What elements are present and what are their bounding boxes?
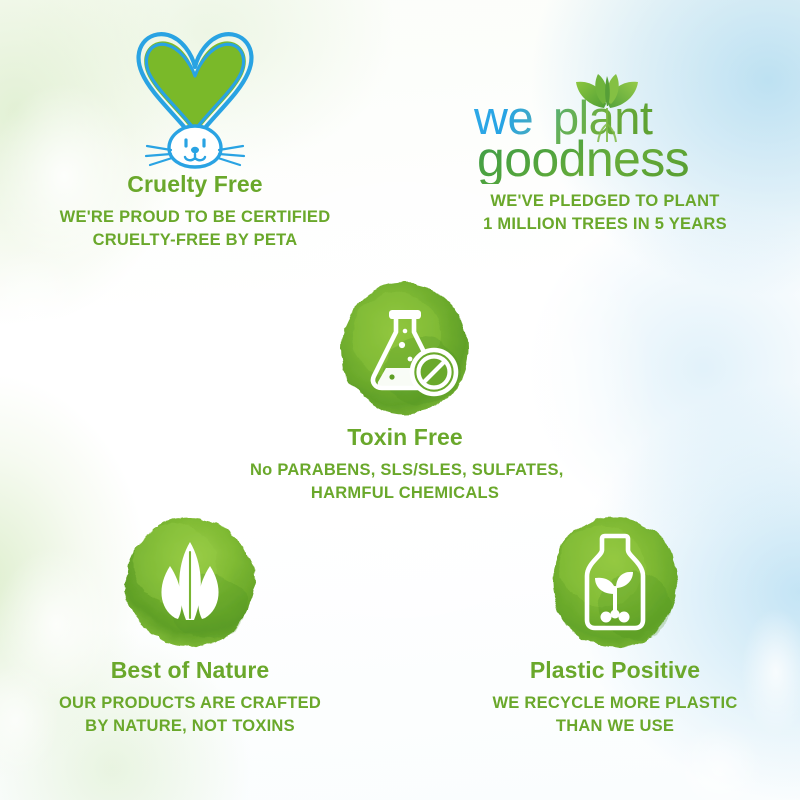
feature-cruelty-free: Cruelty Free WE'RE PROUD TO BE CERTIFIED… [40, 22, 350, 252]
three-leaves-icon [115, 508, 265, 658]
feature-plant-goodness: we plant goodness WE'VE PLEDGED TO PLANT… [440, 72, 770, 236]
description-line: OUR PRODUCTS ARE CRAFTED [30, 692, 350, 715]
plastic-positive-badge [540, 508, 690, 658]
feature-title-toxin-free: Toxin Free [250, 425, 560, 450]
feature-best-of-nature: Best of Nature OUR PRODUCTS ARE CRAFTED … [30, 508, 350, 738]
best-of-nature-badge [115, 508, 265, 658]
flask-no-toxins-icon [330, 275, 480, 425]
description-line: BY NATURE, NOT TOXINS [30, 715, 350, 738]
description-line: WE'VE PLEDGED TO PLANT [440, 190, 770, 213]
feature-description-plant-goodness: WE'VE PLEDGED TO PLANT 1 MILLION TREES I… [440, 190, 770, 236]
description-line: 1 MILLION TREES IN 5 YEARS [440, 213, 770, 236]
we-plant-goodness-logo-svg: we plant goodness [460, 72, 750, 184]
description-line: CRUELTY-FREE BY PETA [40, 229, 350, 252]
feature-toxin-free: Toxin Free No PARABENS, SLS/SLES, SULFAT… [250, 275, 560, 505]
feature-description-best-of-nature: OUR PRODUCTS ARE CRAFTED BY NATURE, NOT … [30, 692, 350, 738]
description-line: HARMFUL CHEMICALS [250, 482, 560, 505]
feature-title-best-of-nature: Best of Nature [30, 658, 350, 683]
infographic-canvas: Cruelty Free WE'RE PROUD TO BE CERTIFIED… [0, 0, 800, 800]
feature-title-plastic-positive: Plastic Positive [455, 658, 775, 683]
bottle-with-sprout-icon [540, 508, 690, 658]
toxin-free-badge [330, 275, 480, 425]
description-line: WE'RE PROUD TO BE CERTIFIED [40, 206, 350, 229]
feature-plastic-positive: Plastic Positive WE RECYCLE MORE PLASTIC… [455, 508, 775, 738]
we-plant-goodness-logo: we plant goodness [460, 72, 750, 182]
feature-description-plastic-positive: WE RECYCLE MORE PLASTIC THAN WE USE [455, 692, 775, 738]
description-line: WE RECYCLE MORE PLASTIC [455, 692, 775, 715]
feature-description-cruelty-free: WE'RE PROUD TO BE CERTIFIED CRUELTY-FREE… [40, 206, 350, 252]
peta-bunny-badge [111, 22, 279, 172]
description-line: No PARABENS, SLS/SLES, SULFATES, [250, 459, 560, 482]
logo-word-goodness: goodness [477, 131, 689, 184]
description-line: THAN WE USE [455, 715, 775, 738]
feature-description-toxin-free: No PARABENS, SLS/SLES, SULFATES, HARMFUL… [250, 459, 560, 505]
peta-cruelty-free-bunny-icon [111, 22, 279, 172]
feature-title-cruelty-free: Cruelty Free [40, 172, 350, 197]
